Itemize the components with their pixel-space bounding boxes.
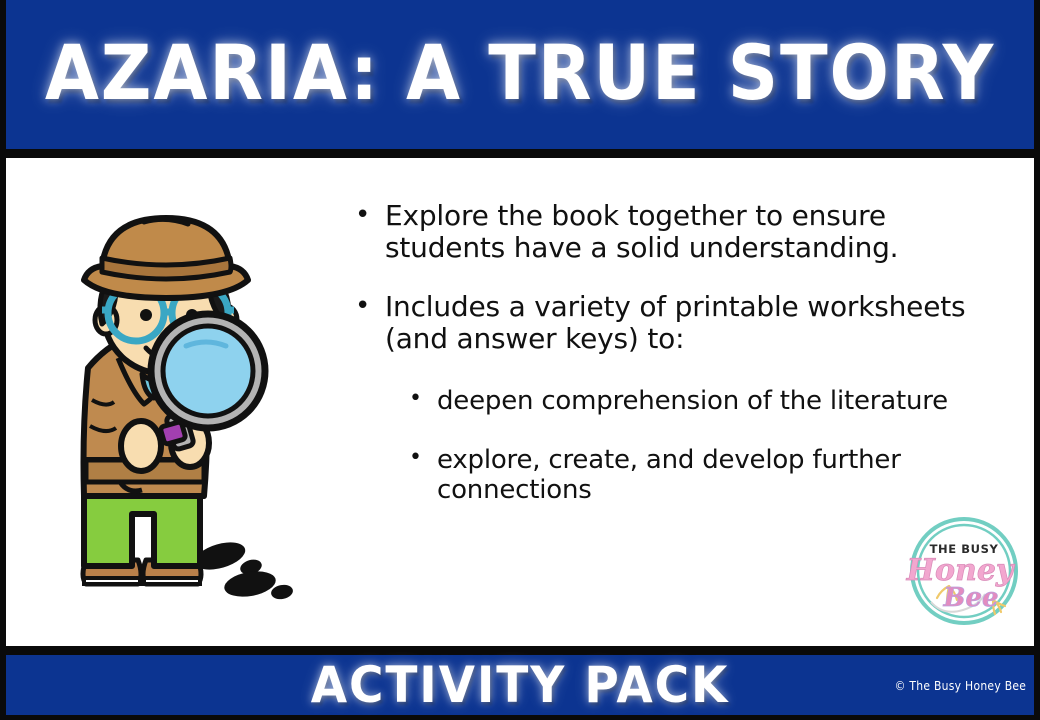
bullet-item: • Includes a variety of printable worksh… [355,291,975,356]
logo-line-3: Bee [942,583,998,613]
sub-bullet-text: explore, create, and develop further con… [437,445,975,506]
frame-border-bottom [0,715,1040,720]
bullet-marker-icon: • [409,445,437,471]
bullet-marker-icon: • [409,386,437,412]
footprints-icon [192,537,294,601]
fedora-hat [84,218,248,298]
poster-canvas: AZARIA: A TRUE STORY [0,0,1040,720]
bullet-text: Includes a variety of printable workshee… [385,291,975,356]
sub-bullet-item: • explore, create, and develop further c… [409,445,975,506]
bullet-marker-icon: • [355,200,385,230]
frame-border-left [0,0,6,720]
sub-bullet-text: deepen comprehension of the literature [437,386,975,417]
frame-border-right [1034,0,1040,720]
green-pants [84,488,200,566]
footer-divider-rule [0,646,1040,655]
busy-honey-bee-logo: THE BUSY Honey Bee [905,512,1023,630]
header-divider-rule [0,149,1040,158]
bullet-marker-icon: • [355,291,385,321]
bullet-list: • Explore the book together to ensure st… [355,200,975,534]
bullet-text: Explore the book together to ensure stud… [385,200,975,265]
page-title: AZARIA: A TRUE STORY [42,0,999,149]
magnifying-glass-icon [151,314,265,428]
bullet-item: • Explore the book together to ensure st… [355,200,975,265]
detective-illustration [58,188,328,608]
sub-bullet-list: • deepen comprehension of the literature… [409,386,975,506]
sub-bullet-item: • deepen comprehension of the literature [409,386,975,417]
footer-title: ACTIVITY PACK [31,655,1009,715]
copyright-notice: © The Busy Honey Bee [894,679,1026,693]
